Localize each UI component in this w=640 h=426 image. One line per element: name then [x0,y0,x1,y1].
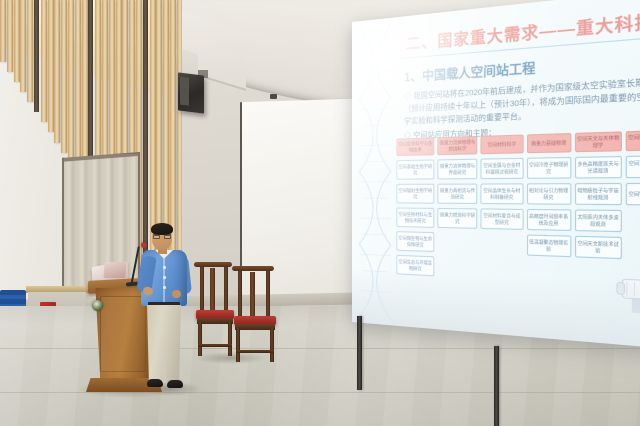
wood-slat [7,0,13,72]
wood-slat [34,0,39,112]
wood-slat [75,0,81,173]
diagram-leaf-box: 相对论与引力物理研究 [526,183,571,205]
floor-seam [0,392,640,393]
presenter-shoe-left [147,379,163,387]
presenter-shirt-placket [163,258,165,302]
slide-section-heading: 1、中国载人空间站工程 [404,58,536,86]
slide-tree-diagram: 空间生命科学与生物技术空间基础生物学研究空间辐射生物学研究空间生物材料与生物技术… [396,130,640,335]
diagram-column-header: 空间天文与天体物理学 [575,131,622,152]
diagram-leaf-box: 空间微生物与生命保障研究 [396,231,434,252]
diagram-leaf-box: 空间辐射生物学研究 [396,184,434,204]
wood-slat [0,0,6,62]
wood-slat [68,0,74,163]
diagram-column-header: 微重力流体物理与燃烧科学 [437,136,477,155]
diagram-leaf-box: 微重力两相流与传热研究 [437,184,477,205]
presenter-right-hand [172,290,181,298]
diagram-column-header: 空间环境与空间物理 [625,130,640,152]
diagram-leaf-box: 空间晶体生长与材料制备研究 [481,183,523,204]
wood-slat [82,0,88,183]
diagram-column: 空间生命科学与生物技术空间基础生物学研究空间辐射生物学研究空间生物材料与生物技术… [396,137,434,316]
whiteboard-mount [270,94,277,99]
diagram-leaf-box: 低温凝聚态物理实验 [526,234,571,257]
diagram-leaf-box: 空间环境预报与监测 [625,155,640,178]
diagram-leaf-box: 空间材料复合与成型研究 [481,208,523,230]
floor-seam [0,348,640,349]
diagram-column-header: 空间材料科学 [481,134,523,154]
diagram-leaf-box: 空间金属与合金材料凝固过程研究 [481,158,523,179]
wood-slat [27,0,33,102]
wood-slat [143,0,148,273]
projection-screen: 二、国家重大需求——重大科技专项 1、中国载人空间站工程 ◇ 我国空间站将在20… [352,0,640,350]
wood-slat [54,0,60,143]
presenter-shoe-right [167,380,183,388]
wall-speaker-icon [178,72,204,113]
wood-slat [14,0,20,82]
shirt-button [163,266,166,269]
diagram-leaf-box: 多色高精度巡天与光谱观测 [575,156,622,179]
diagram-leaf-box: 空间天文新技术试验 [575,236,622,259]
diagram-column-header: 微重力基础物理 [526,133,571,153]
diagram-leaf-box: 高精度时间频率系统及应用 [526,209,571,231]
diagram-leaf-box: 空间物理探测研究 [625,183,640,206]
screen-support-pole [357,316,362,390]
diagram-column: 微重力流体物理与燃烧科学微重力流体物理与界面研究微重力两相流与传热研究微重力燃烧… [437,136,477,320]
podium-front-panel [100,296,146,372]
helix-decoration-icon [356,24,395,322]
podium-crest-icon [92,300,103,311]
wood-slat [61,0,67,153]
wood-slat [20,0,26,92]
diagram-leaf-box: 暗物质粒子与宇宙射线观测 [575,183,622,205]
diagram-leaf-box: 微重力流体物理与界面研究 [437,159,477,180]
diagram-column-header: 空间生命科学与生物技术 [396,137,434,156]
diagram-leaf-box: 空间生态与环境生物研究 [396,255,434,277]
screen-support-pole [494,346,499,426]
microphone-head-icon [141,242,147,248]
space-module-illustration-icon [615,267,640,318]
diagram-column: 空间材料科学空间金属与合金材料凝固过程研究空间晶体生长与材料制备研究空间材料复合… [481,134,523,323]
diagram-leaf-box: 空间基础生物学研究 [396,159,434,179]
shirt-button [163,276,166,279]
diagram-leaf-box: 空间冷原子物理研究 [526,157,571,179]
diagram-leaf-box: 微重力燃烧科学研究 [437,208,477,229]
shirt-button [163,286,166,289]
lecture-hall-photo: 灭火器 灭火器 [0,0,640,426]
diagram-leaf-box: 太阳系内天体多波段观测 [575,209,622,232]
speaker-grille [180,77,189,106]
podium-papers-secondary [103,262,126,278]
diagram-column: 微重力基础物理空间冷原子物理研究相对论与引力物理研究高精度时间频率系统及应用低温… [526,133,571,327]
wood-slat [41,0,47,122]
wood-slat [48,0,54,132]
glasses-icon [153,234,171,239]
diagram-leaf-box: 空间生物材料与生物技术研究 [396,207,434,227]
